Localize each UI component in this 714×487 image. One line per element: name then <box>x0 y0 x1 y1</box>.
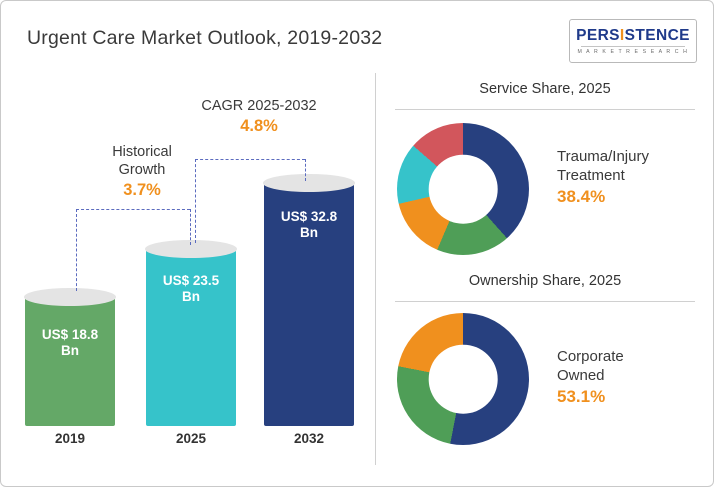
logo-divider <box>581 46 685 47</box>
service-share-value: 38.4% <box>557 187 707 206</box>
cagr-value: 4.8% <box>179 117 339 135</box>
ownership-share-donut-hole <box>429 345 498 414</box>
chart-page: Urgent Care Market Outlook, 2019-2032 PE… <box>0 0 714 487</box>
ownership-share-label-line2: Owned <box>557 366 707 385</box>
bar-2025-category: 2025 <box>146 431 236 446</box>
bar-2025: US$ 23.5Bn <box>146 249 236 426</box>
service-share-donut <box>397 123 529 255</box>
historical-growth-callout: Historical Growth 3.7% <box>77 143 207 199</box>
bar-2019: US$ 18.8Bn <box>25 297 115 426</box>
cagr-label: CAGR 2025-2032 <box>201 98 316 114</box>
bar-2019-value: US$ 18.8Bn <box>25 327 115 359</box>
bar-2025-cap <box>145 240 237 258</box>
cagr-callout: CAGR 2025-2032 4.8% <box>179 97 339 135</box>
service-share-donut-hole <box>429 155 498 224</box>
historical-connector-left <box>76 209 77 291</box>
ownership-share-rule <box>395 301 695 302</box>
service-share-label-line1: Trauma/Injury <box>557 148 649 165</box>
cagr-connector-right <box>305 159 306 181</box>
logo-wordmark: PERSISTENCE <box>570 27 696 44</box>
bar-2019-category: 2019 <box>25 431 115 446</box>
bar-2032-category: 2032 <box>264 431 354 446</box>
service-share-label-line2: Treatment <box>557 166 707 185</box>
company-logo: PERSISTENCE M A R K E T R E S E A R C H <box>569 19 697 63</box>
historical-growth-value: 3.7% <box>77 181 207 199</box>
ownership-share-title: Ownership Share, 2025 <box>395 273 695 289</box>
cagr-connector-left <box>195 159 196 243</box>
historical-growth-label-line2: Growth <box>77 161 207 179</box>
bar-2032-value: US$ 32.8Bn <box>264 209 354 241</box>
bar-2032-cap <box>263 174 355 192</box>
bar-2019-cap <box>24 288 116 306</box>
ownership-share-donut <box>397 313 529 445</box>
logo-name-part1: PERS <box>576 27 620 44</box>
service-share-highlight: Trauma/Injury Treatment 38.4% <box>557 147 707 206</box>
ownership-share-highlight: Corporate Owned 53.1% <box>557 347 707 406</box>
historical-connector-right <box>190 209 191 245</box>
service-share-title: Service Share, 2025 <box>395 81 695 97</box>
cagr-connector-horizontal <box>195 159 305 160</box>
historical-growth-label-line1: Historical <box>112 144 172 160</box>
historical-connector-horizontal <box>76 209 190 210</box>
ownership-share-label-line1: Corporate <box>557 348 624 365</box>
panel-divider <box>375 73 376 465</box>
ownership-share-value: 53.1% <box>557 387 707 406</box>
bar-2032: US$ 32.8Bn <box>264 183 354 426</box>
bar-2025-value: US$ 23.5Bn <box>146 273 236 305</box>
page-title: Urgent Care Market Outlook, 2019-2032 <box>27 27 382 50</box>
logo-name-part2: STENCE <box>625 27 690 44</box>
service-share-rule <box>395 109 695 110</box>
logo-tagline: M A R K E T R E S E A R C H <box>570 49 696 55</box>
